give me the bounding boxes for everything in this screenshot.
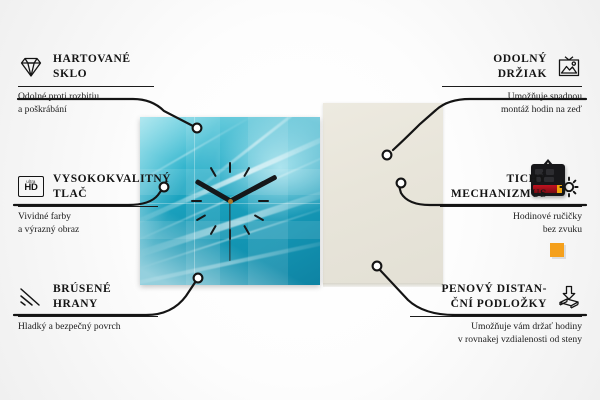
feature-divider	[18, 86, 154, 87]
clock-back-panel	[323, 103, 443, 283]
feature-title: TICHÝ MECHANIZMUS	[451, 172, 547, 201]
infographic-stage: HARTOVANÉ SKLO Odolné proti rozbitiu a p…	[0, 0, 600, 400]
feature-tempered-glass: HARTOVANÉ SKLO Odolné proti rozbitiu a p…	[18, 52, 154, 116]
picture-frame-icon	[556, 55, 582, 79]
foam-spacer-pad	[550, 243, 564, 257]
gear-icon	[556, 175, 582, 199]
feature-durable-hanger: ODOLNÝ DRŽIAK Umožňuje snadnou montáž ho…	[442, 52, 582, 116]
feature-header: ultra HD VYSOKOKVALITNÝ TLAČ	[18, 172, 158, 201]
feature-foam-spacers: PENOVÝ DISTAN- ČNÍ PODLOŽKY Umožňuje vám…	[410, 282, 582, 346]
feature-subtitle: Hladký a bezpečný povrch	[18, 321, 158, 334]
feature-beveled-edges: BRÚSENÉ HRANY Hladký a bezpečný povrch	[18, 282, 158, 334]
feature-title: HARTOVANÉ SKLO	[53, 52, 131, 81]
diamond-icon	[18, 55, 44, 79]
feature-subtitle: Umožňuje snadnou montáž hodin na zeď	[442, 91, 582, 116]
beveled-edges-icon	[18, 285, 44, 309]
feature-divider	[410, 316, 582, 317]
feature-header: ODOLNÝ DRŽIAK	[442, 52, 582, 81]
glass-clock-face	[140, 117, 320, 285]
ultra-hd-icon: ultra HD	[18, 176, 44, 197]
clock-center-pin	[228, 199, 233, 204]
feature-header: HARTOVANÉ SKLO	[18, 52, 154, 81]
product-photo	[140, 105, 380, 285]
feature-divider	[18, 206, 158, 207]
feature-silent-mechanism: TICHÝ MECHANIZMUS Hodinové ručičky bez z…	[440, 172, 582, 236]
feature-header: TICHÝ MECHANIZMUS	[440, 172, 582, 201]
feature-title: PENOVÝ DISTAN- ČNÍ PODLOŽKY	[441, 282, 547, 311]
feature-title: VYSOKOKVALITNÝ TLAČ	[53, 172, 171, 201]
feature-title: ODOLNÝ DRŽIAK	[493, 52, 547, 81]
feature-subtitle: Odolné proti rozbitiu a poškrábání	[18, 91, 154, 116]
feature-high-quality-print: ultra HD VYSOKOKVALITNÝ TLAČ Vividné far…	[18, 172, 158, 236]
feature-subtitle: Vividné farby a výrazný obraz	[18, 211, 158, 236]
feature-divider	[18, 316, 158, 317]
feature-divider	[442, 86, 582, 87]
feature-divider	[440, 206, 582, 207]
feature-header: BRÚSENÉ HRANY	[18, 282, 158, 311]
foam-pad-arrow-icon	[556, 285, 582, 309]
feature-subtitle: Umožňuje vám držať hodiny v rovnakej vzd…	[410, 321, 582, 346]
feature-subtitle: Hodinové ručičky bez zvuku	[440, 211, 582, 236]
feature-header: PENOVÝ DISTAN- ČNÍ PODLOŽKY	[410, 282, 582, 311]
feature-title: BRÚSENÉ HRANY	[53, 282, 111, 311]
